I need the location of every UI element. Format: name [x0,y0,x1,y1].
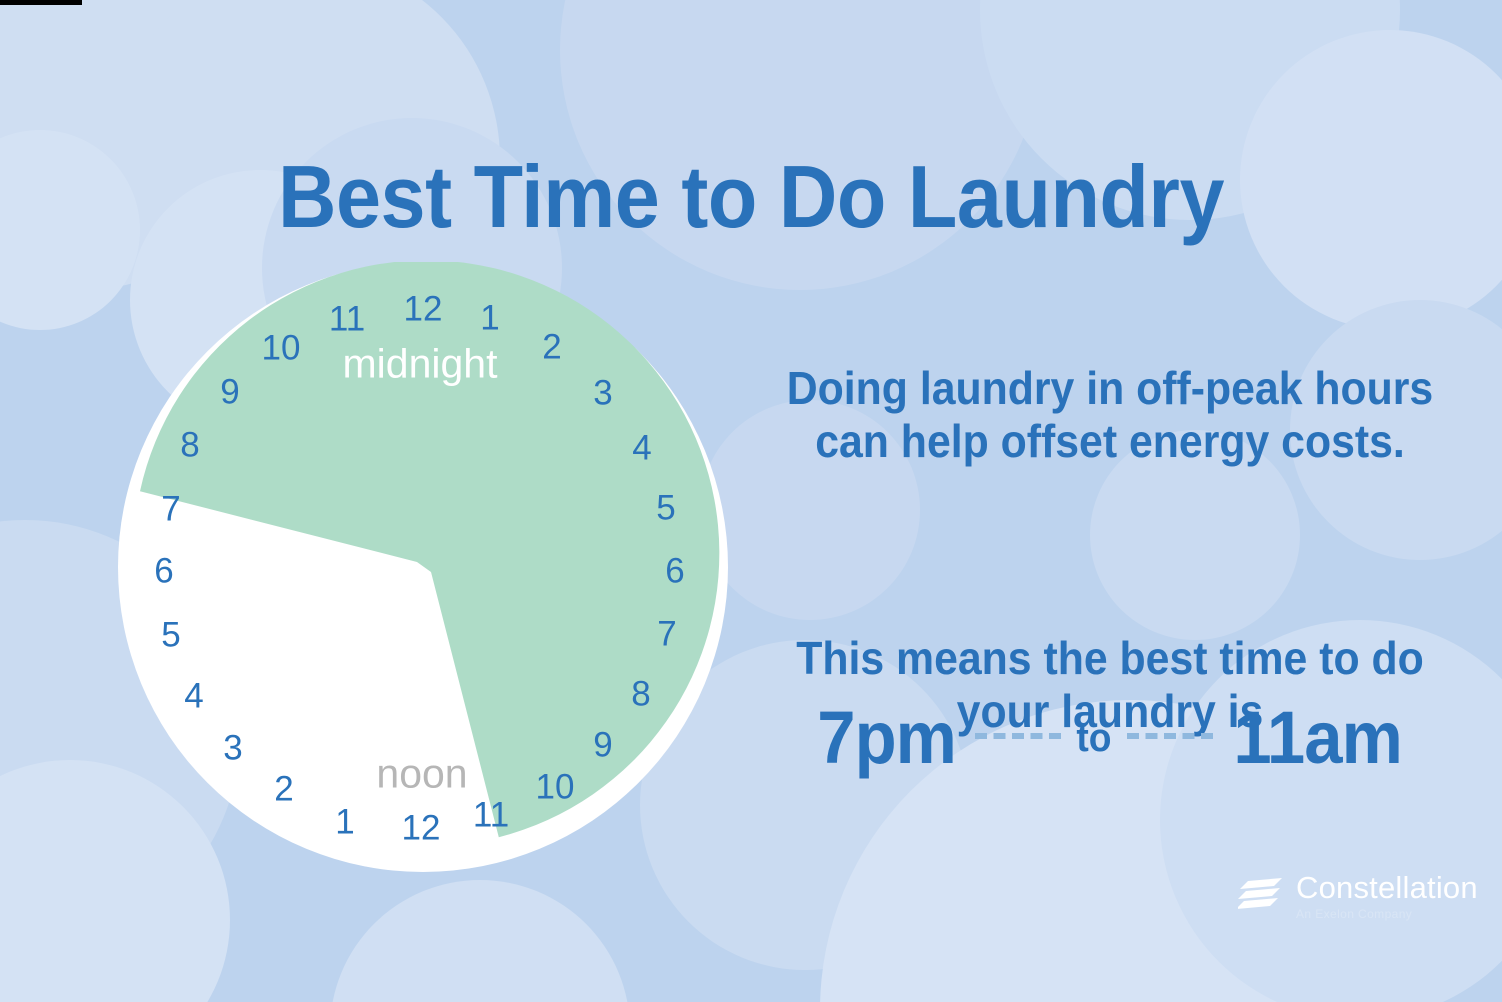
clock-hour-label: 6 [665,554,684,589]
offpeak-explainer-text: Doing laundry in off-peak hours can help… [785,362,1436,469]
logo-name: Constellation [1296,872,1478,905]
clock-midnight-label: midnight [343,344,498,385]
clock-hour-label: 6 [154,554,173,589]
clock-hour-label: 11 [473,798,509,833]
clock-hour-label: 5 [161,618,180,653]
constellation-logo: Constellation An Exelon Company [1238,872,1478,921]
clock-hour-label: 3 [593,376,612,411]
clock-hour-label: 10 [536,770,575,805]
swoosh-icon [1238,876,1284,916]
clock-noon-label: noon [376,754,467,795]
clock-hour-label: 7 [657,617,676,652]
logo-wordmark-group: Constellation An Exelon Company [1296,872,1478,921]
bubble-decoration [330,880,630,1002]
clock-hour-label: 5 [656,491,675,526]
best-time-range: 7pm to 11am [760,695,1460,781]
clock-hour-label: 10 [262,331,301,366]
clock-hour-label: 8 [180,428,199,463]
clock-hour-label: 8 [631,677,650,712]
dash-connector-left [975,733,1061,739]
offpeak-clock: 12 1 2 3 4 5 6 7 8 9 10 11 12 1 2 3 4 5 … [118,262,728,872]
clock-hour-label: 3 [223,731,242,766]
clock-hour-label: 2 [274,772,293,807]
clock-hour-label: 1 [480,301,499,336]
clock-hour-label: 4 [632,431,651,466]
infographic-canvas: Best Time to Do Laundry 12 1 2 3 4 5 6 7… [0,0,1502,1002]
clock-hour-label: 9 [593,728,612,763]
clock-hour-label: 2 [542,330,561,365]
clock-hour-label: 12 [404,292,443,327]
clock-hour-label: 7 [161,492,180,527]
bubble-decoration [560,0,1040,290]
corner-marker [0,0,82,5]
clock-hour-label: 9 [220,375,239,410]
dash-connector-right [1127,733,1213,739]
end-time-value: 11am [1233,701,1402,775]
clock-hour-label: 12 [402,811,441,846]
range-join-word: to [1076,718,1111,758]
logo-tagline: An Exelon Company [1296,908,1478,921]
bubble-decoration [0,0,290,290]
clock-hour-label: 1 [335,805,354,840]
page-title: Best Time to Do Laundry [60,153,1442,241]
start-time-value: 7pm [817,701,956,775]
clock-hour-label: 11 [329,302,365,337]
clock-hour-label: 4 [184,679,203,714]
